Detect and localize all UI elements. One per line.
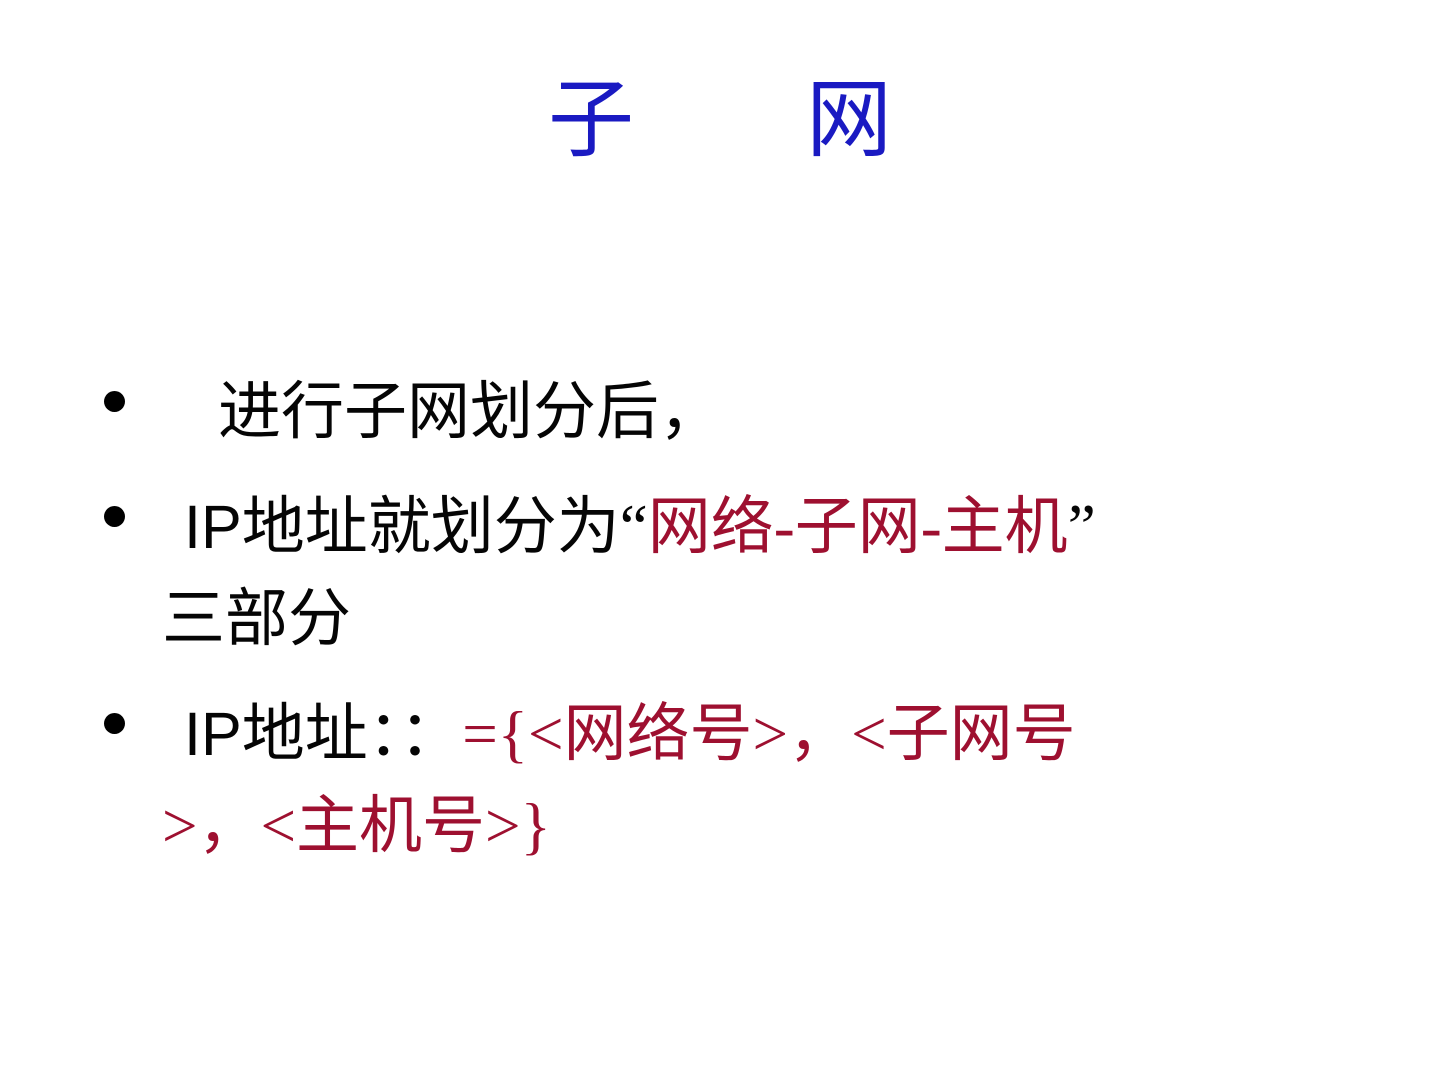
list-item: IP地址：：={<网络号>，<子网号>，<主机号>} (96, 688, 1386, 873)
bullet-list: 进行子网划分后， IP地址就划分为“网络-子网-主机”三部分 IP地址：：={<… (96, 366, 1386, 873)
list-item-line: 进行子网划分后， (162, 366, 1386, 459)
bullet-dot-icon (104, 391, 125, 412)
list-item-line: IP地址：：={<网络号>，<子网号>，<主机号>} (162, 688, 1386, 873)
slide-canvas: 子 网 进行子网划分后， IP地址就划分为“网络-子网-主机”三部分 IP地址：… (0, 0, 1440, 1080)
list-item-line: IP地址就划分为“网络-子网-主机”三部分 (162, 481, 1386, 666)
list-item-text: 地址就划分为 (242, 492, 620, 562)
highlight-address-formula-part1: ={<网络号>，<子网号 (462, 699, 1075, 769)
list-item-wrapped-text: 三部分 (162, 584, 351, 654)
open-quote-mark: “ (620, 492, 648, 562)
list-item-text: 地址：： (242, 699, 463, 769)
highlight-address-formula-part2: >，<主机号>} (162, 791, 551, 861)
page-title: 子 网 (0, 74, 1440, 167)
bullet-dot-icon (104, 713, 125, 734)
close-quote-mark: ” (1068, 492, 1096, 562)
list-item: 进行子网划分后， (96, 366, 1386, 459)
highlight-network-subnet-host: 网络-子网-主机 (648, 492, 1068, 562)
ip-label: IP (184, 493, 242, 561)
bullet-dot-icon (104, 506, 125, 527)
list-item: IP地址就划分为“网络-子网-主机”三部分 (96, 481, 1386, 666)
list-item-text: 进行子网划分后， (218, 377, 722, 447)
ip-label: IP (184, 700, 242, 768)
